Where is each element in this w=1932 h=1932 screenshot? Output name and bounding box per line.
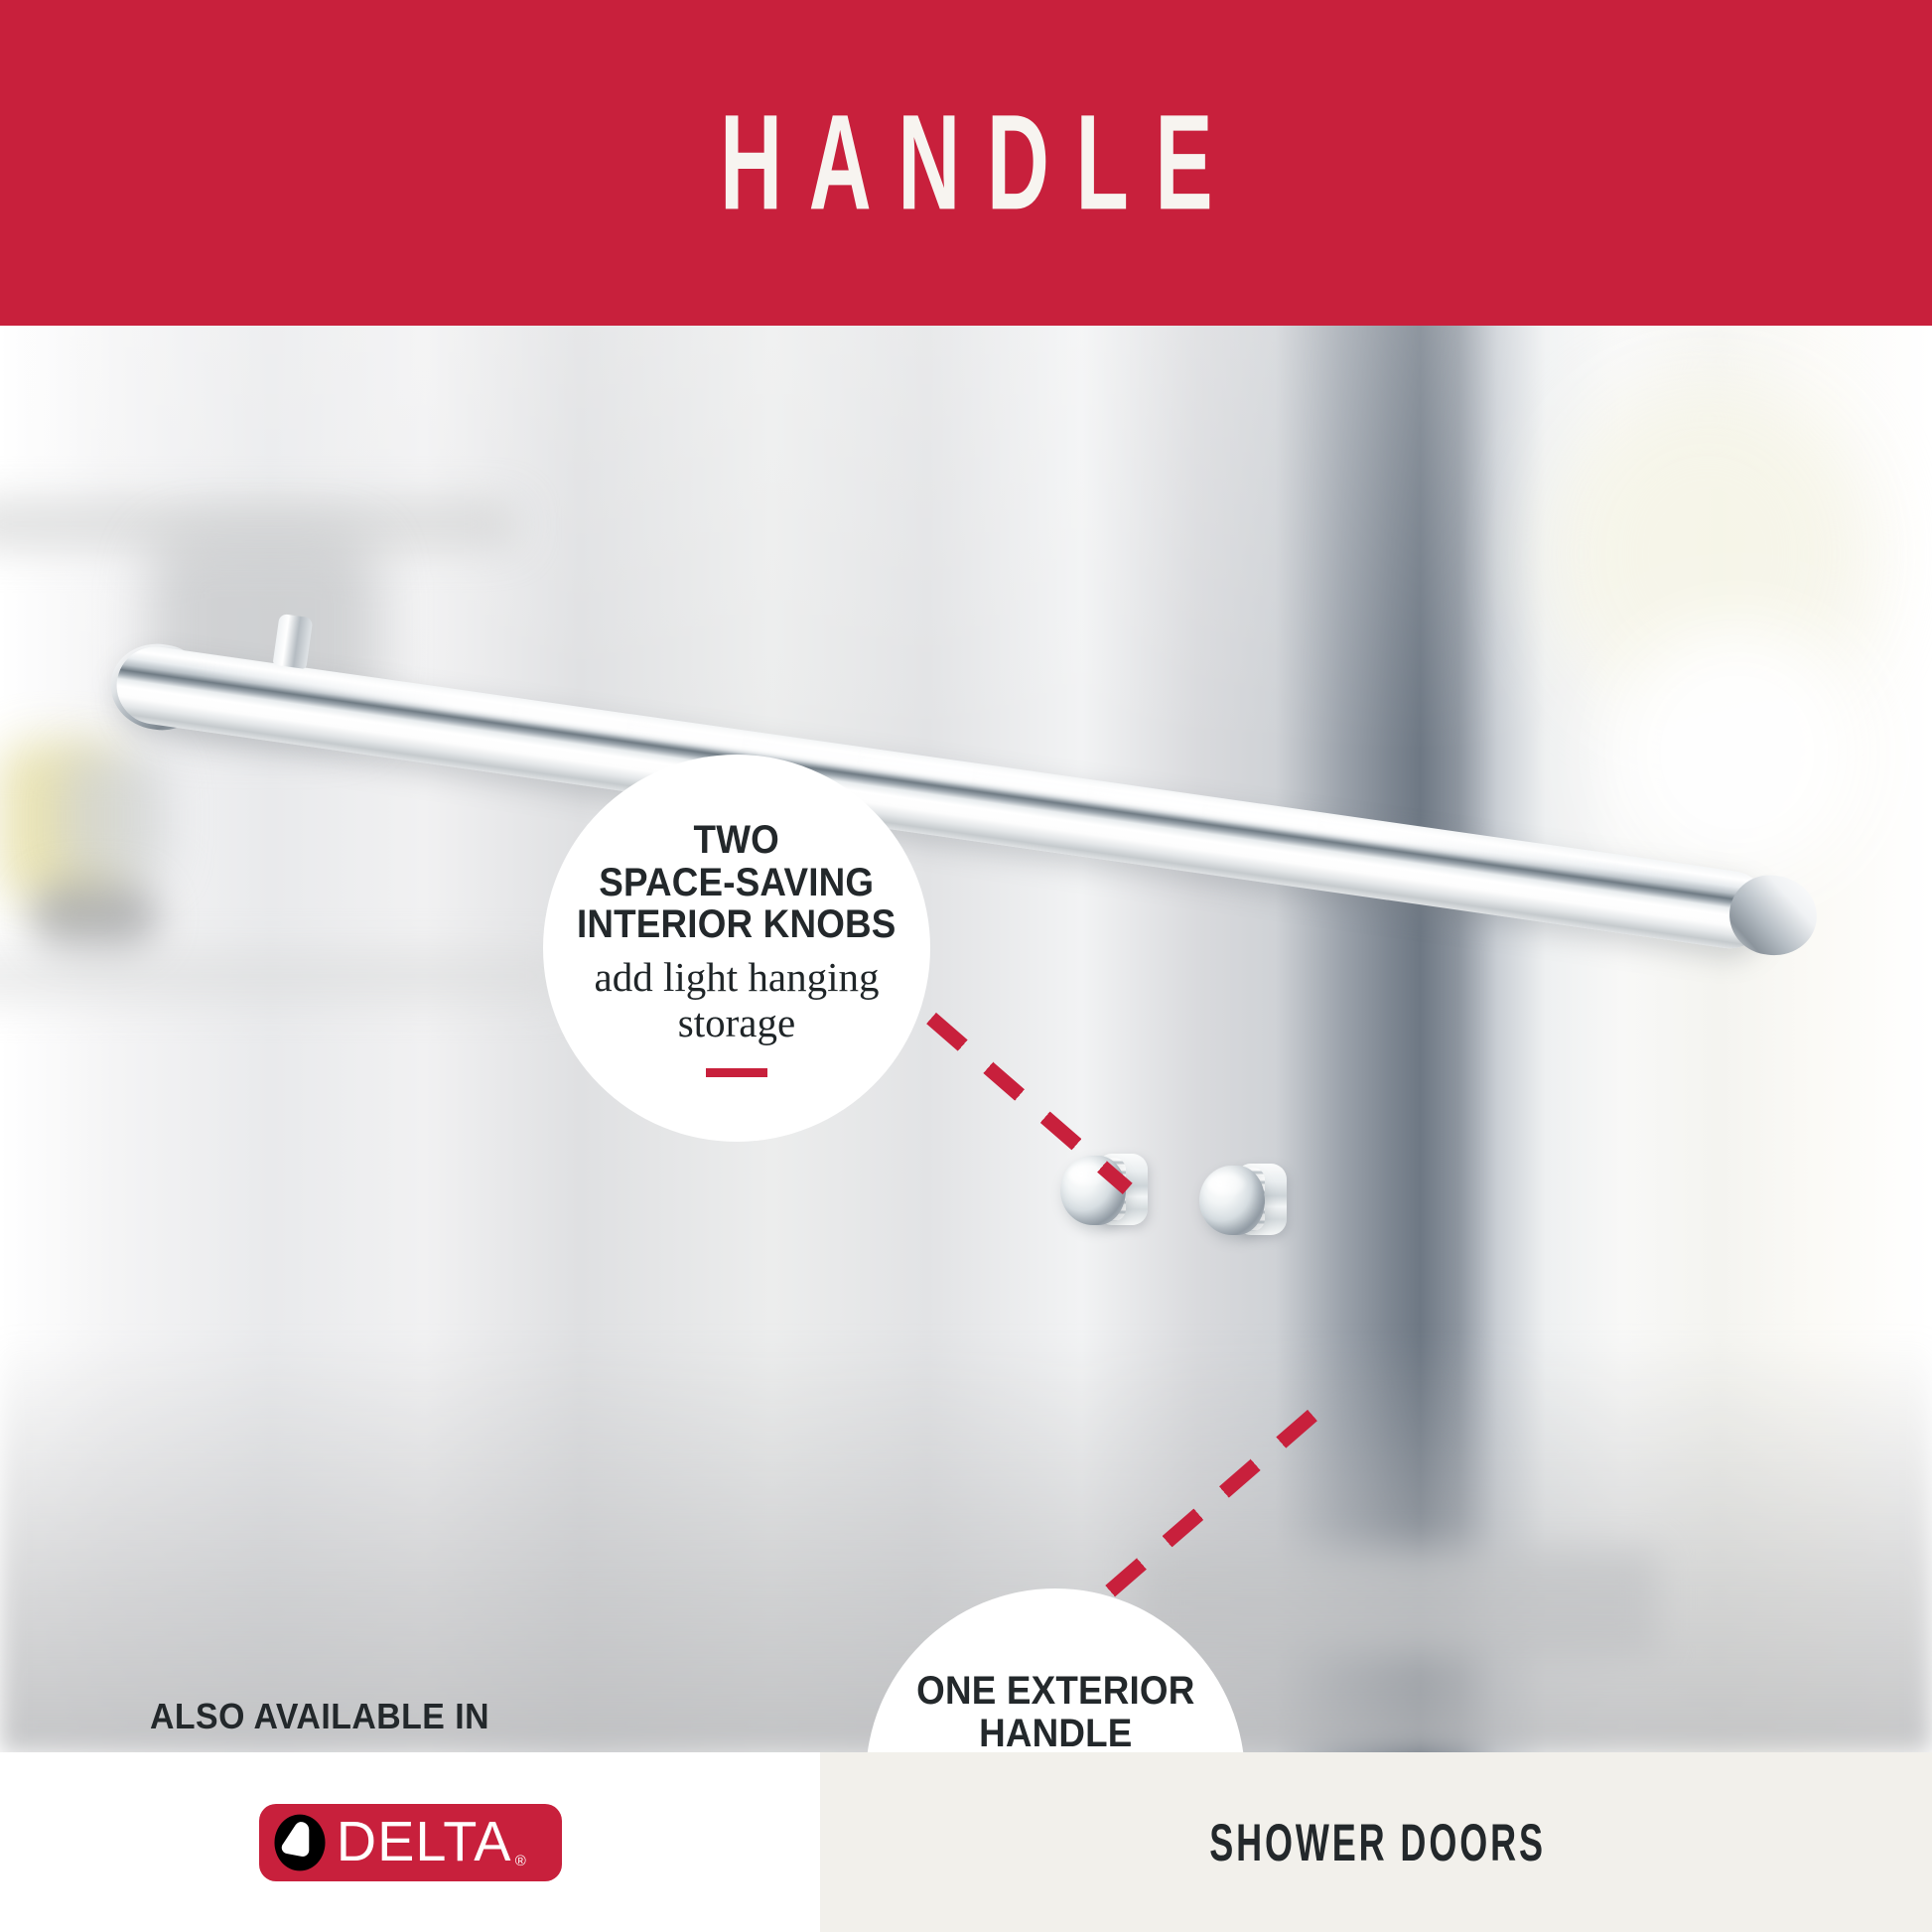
interior-knob-2 [1199,1158,1291,1243]
delta-wordmark: DELTA [336,1814,511,1870]
footer-category-label: SHOWER DOORS [1206,1812,1545,1872]
knob-ring [1231,1168,1265,1231]
delta-triangle-icon [271,1814,329,1871]
knob-head [1199,1166,1265,1235]
background-object-dark [30,882,159,951]
background-window-highlight [1608,623,1866,882]
background-shelf-lower [0,961,576,991]
page-title: HANDLE [693,95,1239,231]
also-available-title: ALSO AVAILABLE IN [124,1696,516,1737]
delta-logo: DELTA ® [259,1804,562,1881]
footer: DELTA ® SHOWER DOORS [0,1752,1932,1932]
header-banner: HANDLE [0,0,1932,326]
callout-headline: TWO SPACE-SAVING INTERIOR KNOBS [577,819,897,946]
callout-rule [706,1068,767,1077]
leader-line-interior-knobs [926,1013,1133,1194]
handle-end-cap-right [1725,870,1822,961]
also-available-section: ALSO AVAILABLE IN BRUSHED NICKEL BRONZE [111,1696,528,1752]
callout-interior-knobs: TWO SPACE-SAVING INTERIOR KNOBS add ligh… [543,755,930,1142]
product-photo: TWO SPACE-SAVING INTERIOR KNOBS add ligh… [0,326,1932,1752]
knob-shaft [1235,1164,1287,1235]
callout-subtext: add light hanging storage [595,955,880,1046]
product-feature-graphic: HANDLE [0,0,1932,1932]
background-object-bottle [149,534,377,733]
callout-headline: ONE EXTERIOR HANDLE [916,1670,1194,1752]
knob-gloss-highlight [1207,1173,1245,1195]
background-object-gray [60,753,169,882]
footer-brand-panel: DELTA ® [0,1752,820,1932]
footer-category-panel: SHOWER DOORS [820,1752,1932,1932]
registered-mark: ® [515,1853,526,1869]
